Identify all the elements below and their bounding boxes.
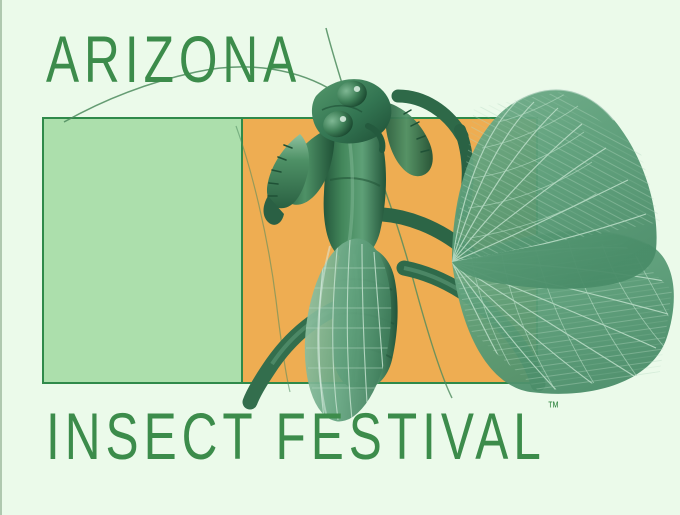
scan-edge: [0, 0, 2, 515]
mantis-eye-left: [334, 77, 371, 111]
page-title-bottom: INSECT FESTIVAL™: [46, 405, 558, 471]
mantis-body-wings-panel: [243, 117, 538, 384]
trademark-symbol: ™: [547, 399, 559, 417]
poster-canvas: ARIZONA INSECT FESTIVAL™: [0, 0, 680, 515]
mantis-head-forelegs-panel: [42, 117, 243, 384]
page-title-bottom-text: INSECT FESTIVAL: [46, 401, 546, 474]
page-title-top: ARIZONA: [46, 28, 301, 94]
